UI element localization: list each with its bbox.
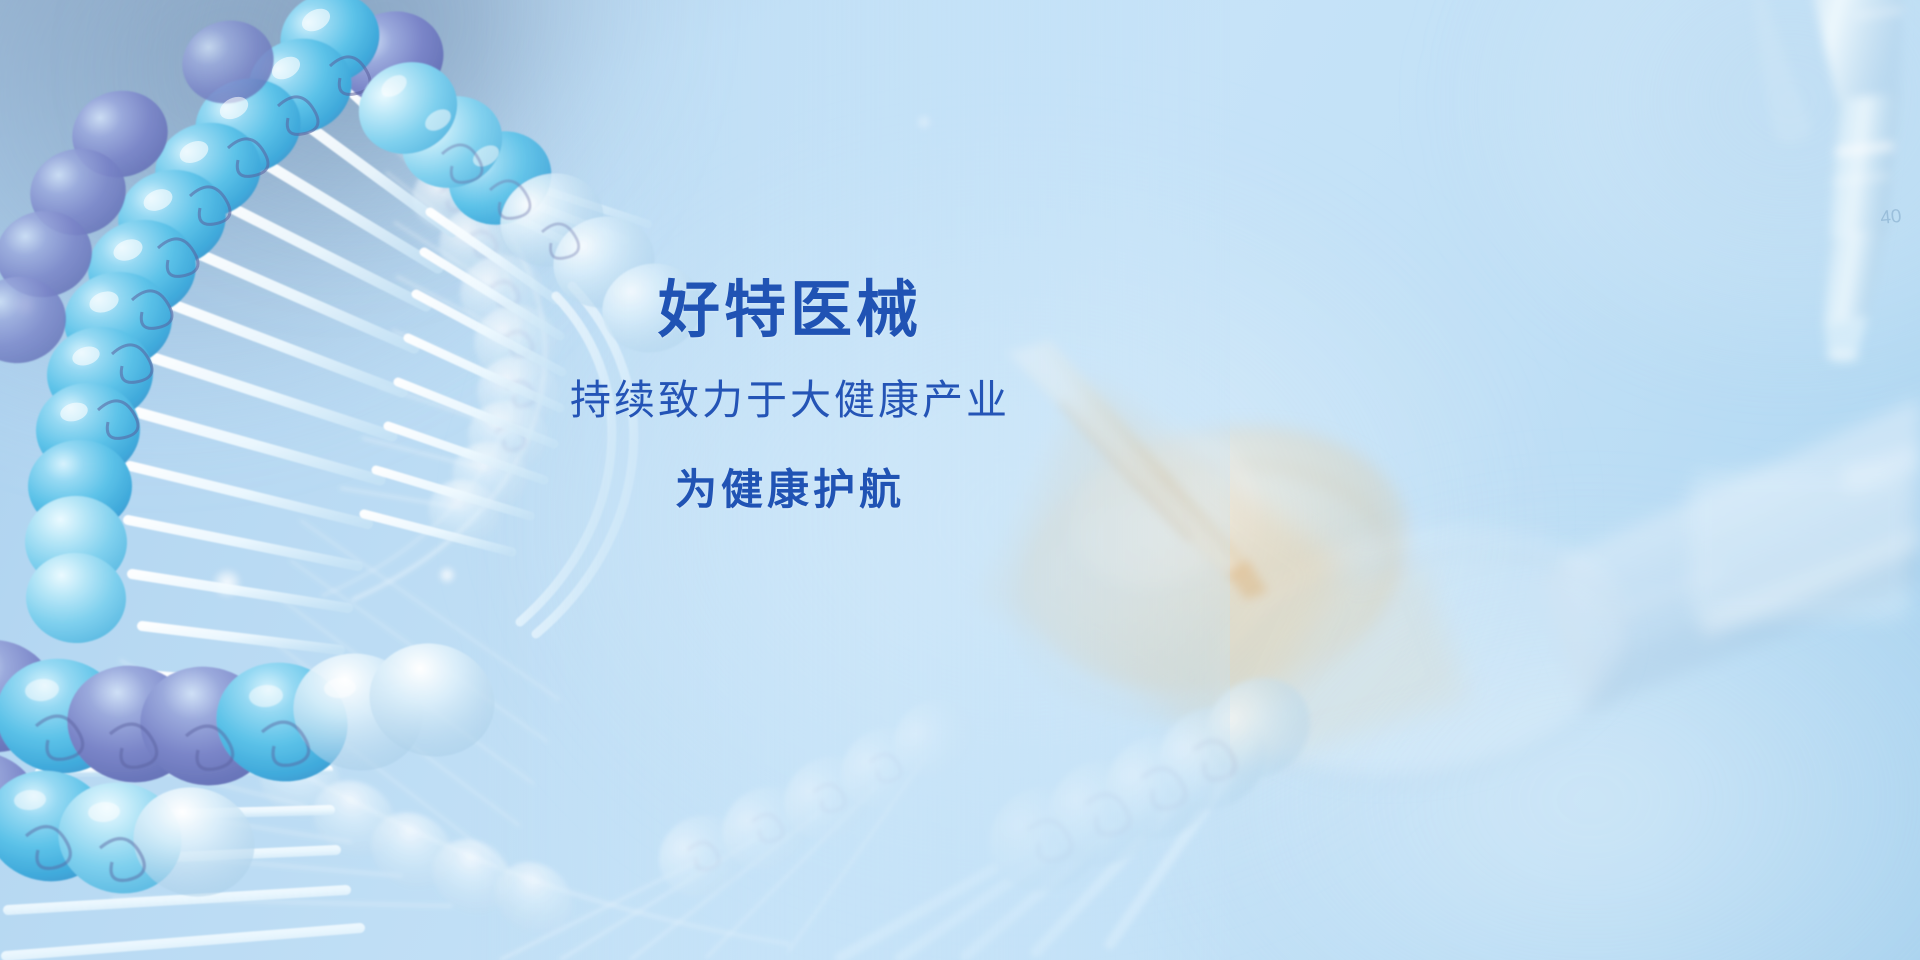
- bokeh-speck: [916, 114, 932, 130]
- dna-ghost-strand-lower: [96, 660, 790, 949]
- bokeh-speck: [438, 566, 456, 584]
- hero-text-inner: 好特医械 持续致力于大健康产业 为健康护航: [570, 280, 1010, 511]
- dna-bead-strand-foreground: [0, 629, 508, 911]
- company-title: 好特医械: [570, 280, 1010, 342]
- bokeh-speck: [228, 712, 254, 738]
- dna-helix-lower-center: [840, 657, 1330, 958]
- company-subtitle: 持续致力于大健康产业: [570, 380, 1010, 421]
- bokeh-speck: [488, 168, 508, 188]
- objective-magnification-label: 40: [1879, 206, 1902, 229]
- dna-ghost-strand-right: [500, 683, 990, 960]
- hero-banner: 40: [0, 0, 1920, 960]
- dna-ghost-rods: [272, 520, 560, 866]
- company-slogan: 为健康护航: [570, 469, 1010, 511]
- glow-bottom-right: [1180, 520, 1920, 960]
- hero-text-block: 好特医械 持续致力于大健康产业 为健康护航: [0, 280, 1920, 511]
- glow-center: [520, 140, 1520, 900]
- dna-backbone-rods: [6, 92, 648, 956]
- bokeh-speck: [212, 568, 242, 598]
